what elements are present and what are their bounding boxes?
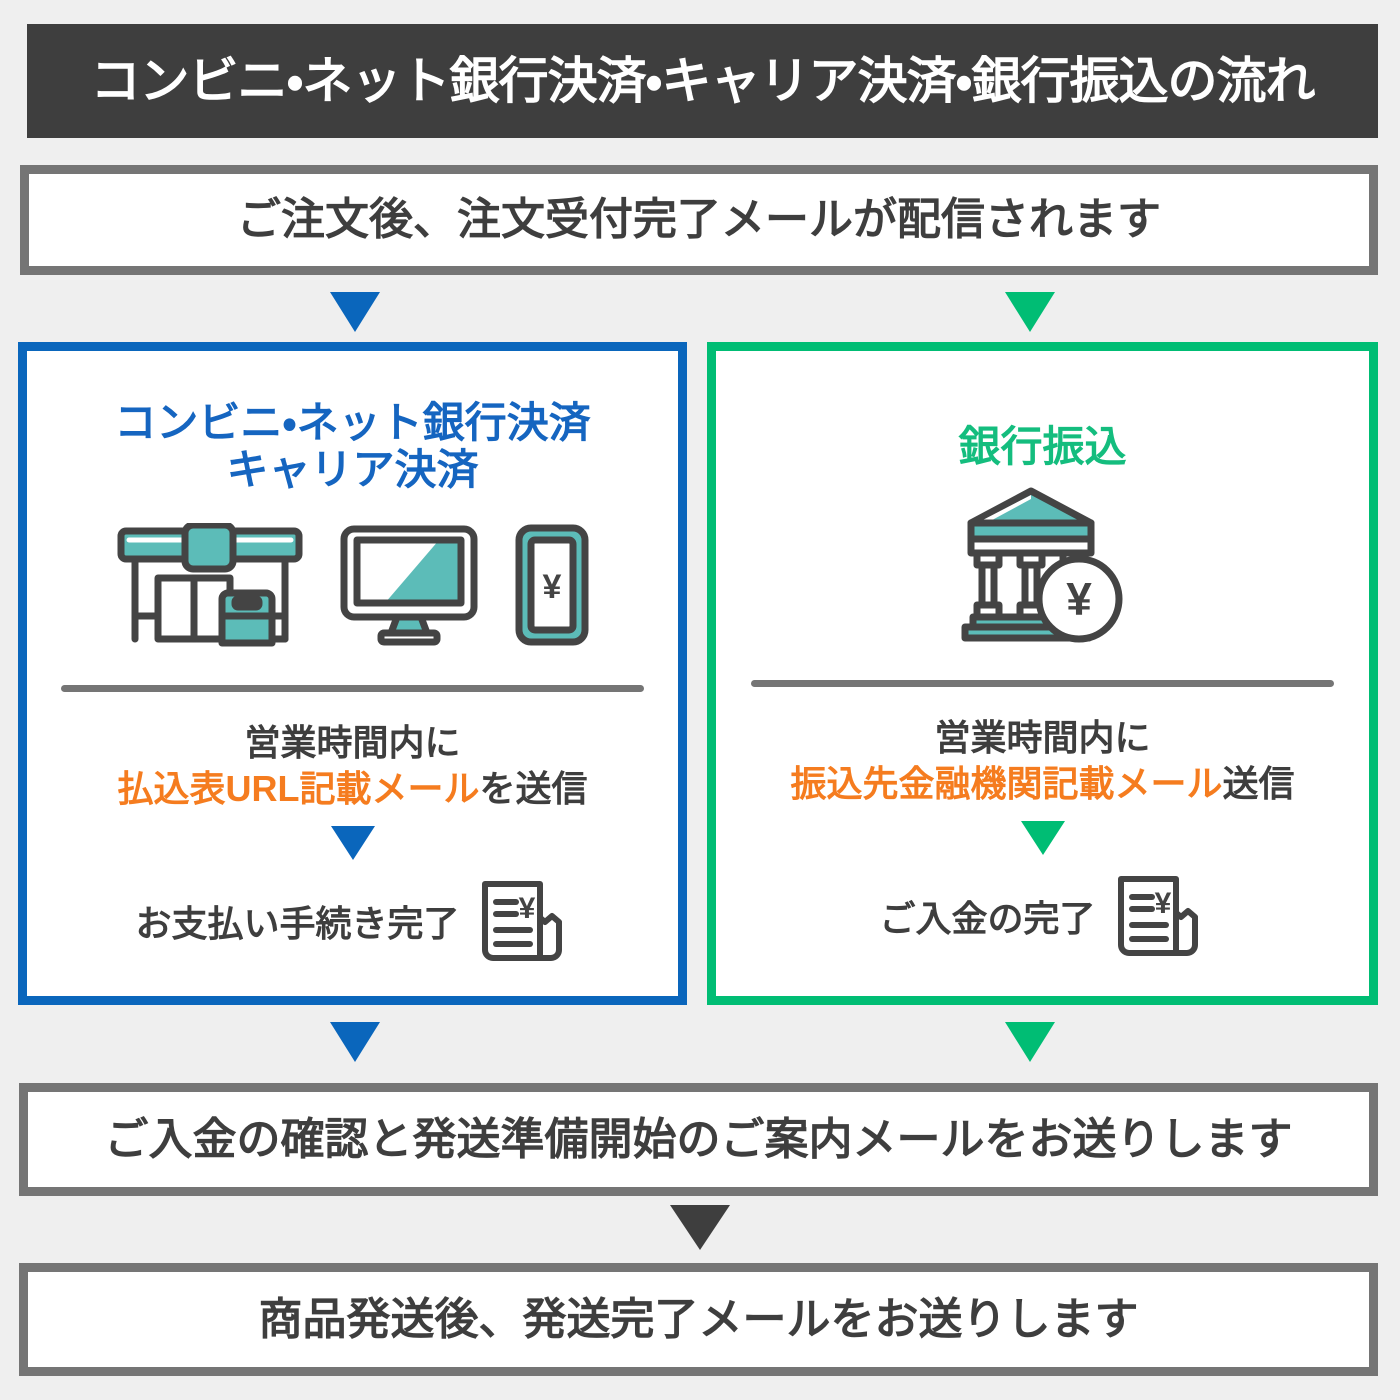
down-arrow-blue-icon <box>330 1022 380 1062</box>
panel-conveni-title: コンビニ・ネット銀行決済 キャリア決済 <box>27 351 678 493</box>
panel-bank-transfer: 銀行振込 <box>707 342 1378 1005</box>
svg-text:¥: ¥ <box>1066 573 1092 625</box>
panel-bank-complete-label: ご入金の完了 <box>879 890 1095 942</box>
svg-text:¥: ¥ <box>1154 887 1171 920</box>
svg-text:¥: ¥ <box>542 568 561 606</box>
step-order-received: ご注文後、注文受付完了メールが配信されます <box>20 165 1378 275</box>
step-shipped-label: 商品発送後、発送完了メールをお送りします <box>259 1298 1139 1342</box>
step-payment-confirmed-label: ご入金の確認と発送準備開始のご案内メールをお送りします <box>105 1118 1293 1162</box>
panel-conveni-inner-arrow-wrap <box>27 826 678 860</box>
bank-building-yen-icon: ¥ <box>957 483 1129 643</box>
note-suffix: 送信 <box>1223 763 1295 804</box>
down-arrow-dark-icon <box>670 1205 730 1250</box>
note-suffix: を送信 <box>479 768 587 809</box>
receipt-yen-icon: ¥ <box>1112 873 1206 959</box>
receipt-yen-icon: ¥ <box>476 878 570 964</box>
diagram-header: コンビニ・ネット銀行決済・キャリア決済・銀行振込の流れ <box>27 24 1378 138</box>
panel-bank-send-note: 営業時間内に 振込先金融機関記載メール送信 <box>716 715 1369 807</box>
note-highlight: 払込表URL記載メール <box>117 768 479 809</box>
step-shipped: 商品発送後、発送完了メールをお送りします <box>19 1263 1378 1376</box>
panel-conveni-send-note: 営業時間内に 払込表URL記載メールを送信 <box>27 720 678 812</box>
panel-bank-icon-row: ¥ <box>716 478 1369 643</box>
note-highlight: 振込先金融機関記載メール <box>790 763 1222 804</box>
down-arrow-blue-icon <box>331 826 375 860</box>
down-arrow-blue-icon <box>330 292 380 332</box>
desktop-monitor-icon <box>339 523 479 647</box>
panel-convenience-payment: コンビニ・ネット銀行決済 キャリア決済 <box>18 342 687 1005</box>
panel-bank-divider <box>751 680 1334 687</box>
svg-text:¥: ¥ <box>518 892 535 925</box>
convenience-store-icon <box>115 523 305 647</box>
payment-flow-diagram: コンビニ・ネット銀行決済・キャリア決済・銀行振込の流れ ご注文後、注文受付完了メ… <box>0 0 1400 1400</box>
note-line1: 営業時間内に <box>934 717 1150 758</box>
panel-bank-complete-row: ご入金の完了 ¥ <box>716 873 1369 959</box>
step-order-label: ご注文後、注文受付完了メールが配信されます <box>237 198 1161 242</box>
panel-conveni-divider <box>61 685 644 692</box>
down-arrow-green-icon <box>1005 1022 1055 1062</box>
down-arrow-green-icon <box>1005 292 1055 332</box>
note-line1: 営業時間内に <box>244 722 460 763</box>
panel-bank-title: 銀行振込 <box>716 351 1369 470</box>
page-title: コンビニ・ネット銀行決済・キャリア決済・銀行振込の流れ <box>91 56 1315 106</box>
panel-conveni-icon-row: ¥ <box>27 517 678 647</box>
smartphone-yen-icon: ¥ <box>513 523 591 647</box>
down-arrow-green-icon <box>1021 821 1065 855</box>
panel-conveni-complete-row: お支払い手続き完了 ¥ <box>27 878 678 964</box>
panel-bank-inner-arrow-wrap <box>716 821 1369 855</box>
step-payment-confirmed: ご入金の確認と発送準備開始のご案内メールをお送りします <box>19 1083 1378 1196</box>
panel-conveni-complete-label: お支払い手続き完了 <box>135 895 459 947</box>
